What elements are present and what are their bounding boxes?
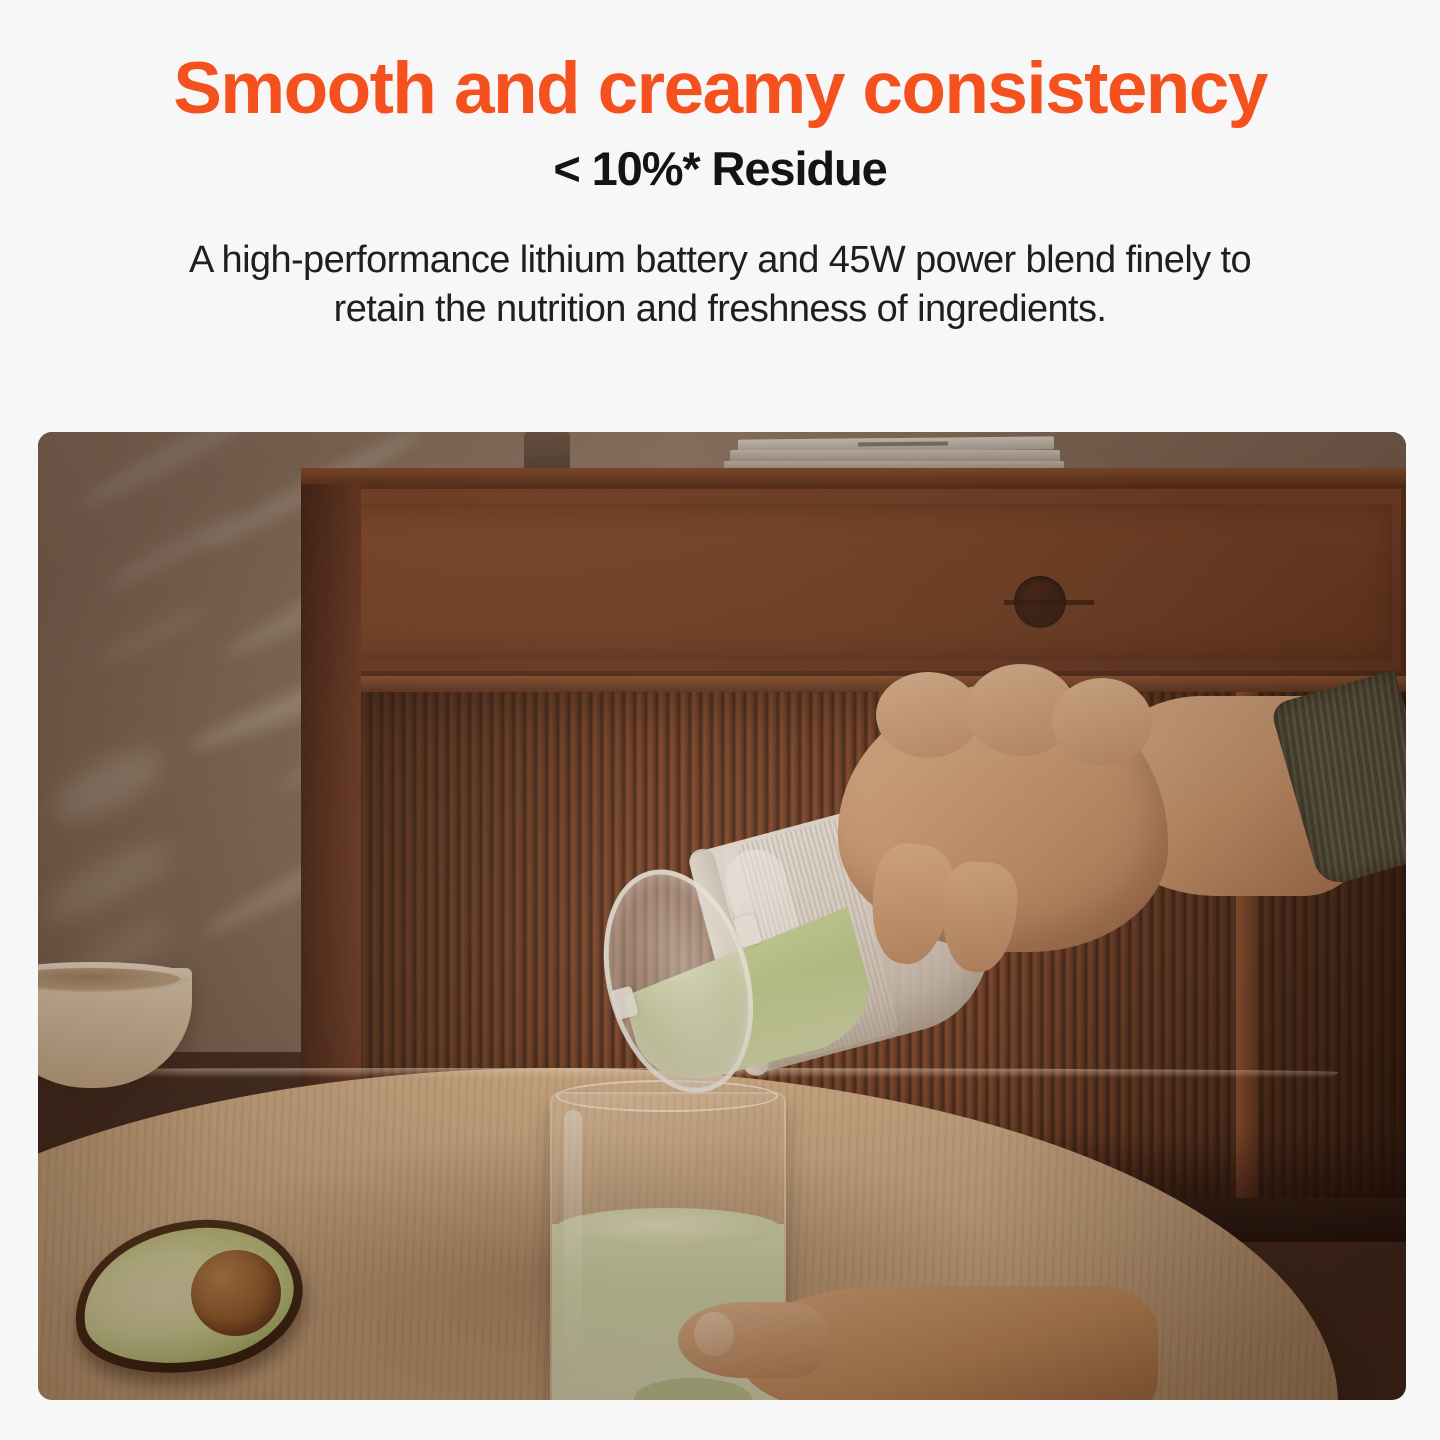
body-line-1: A high-performance lithium battery and 4… xyxy=(189,239,1251,281)
copy-block: Smooth and creamy consistency < 10%* Res… xyxy=(0,0,1440,335)
body-line-2: retain the nutrition and freshness of in… xyxy=(90,285,1350,334)
holding-hand xyxy=(678,1268,1158,1400)
fingernail xyxy=(694,1312,734,1356)
body-text: A high-performance lithium battery and 4… xyxy=(90,194,1350,335)
book-spine xyxy=(858,441,948,446)
glass-highlight xyxy=(564,1110,582,1360)
drawer-pull-icon xyxy=(1014,576,1066,628)
sideboard-top xyxy=(301,468,1406,484)
sideboard-drawer xyxy=(307,484,1406,676)
avocado-half xyxy=(73,1222,303,1372)
product-photo xyxy=(38,432,1406,1400)
page-title: Smooth and creamy consistency xyxy=(0,0,1440,126)
knuckle xyxy=(876,672,980,758)
drawer-panel xyxy=(333,504,1392,660)
finger xyxy=(938,860,1019,975)
pouring-hand xyxy=(838,672,1358,1002)
scene xyxy=(38,432,1406,1400)
knuckle xyxy=(1052,678,1152,766)
product-feature-card: Smooth and creamy consistency < 10%* Res… xyxy=(0,0,1440,1440)
subtitle: < 10%* Residue xyxy=(0,126,1440,193)
